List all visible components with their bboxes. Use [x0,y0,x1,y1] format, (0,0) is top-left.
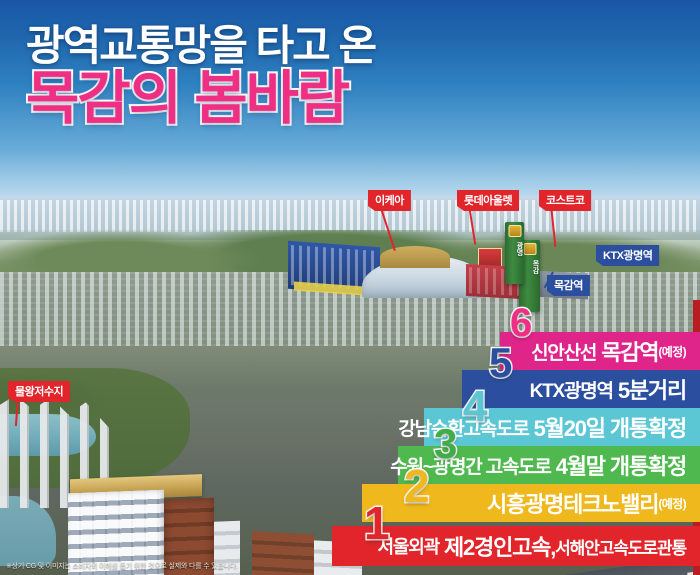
retail-complex [288,232,588,304]
disclaimer-text: ※상기 CG 및 이미지는 소비자의 이해를 돕기 위한 것으로 실제와 다를 … [6,561,238,571]
number-badge-6: 6 [510,303,532,343]
label-ikea: 이케아 [368,190,411,211]
advertisement-poster: 광역교통망을 타고 온 목감의 봄바람 [0,0,700,575]
headline-line-1: 광역교통망을 타고 온 [26,22,676,70]
pylon-emblem-icon [508,225,521,237]
label-costco: 코스트코 [539,190,591,211]
number-badge-2: 2 [404,463,430,509]
neighbor-facade-brick [252,531,314,575]
pylon-label-gwangmyeong: 광명 [505,242,524,256]
headline-line-2: 목감의 봄바람 [26,68,676,130]
bar5-text-2: 5분거리 [618,373,686,405]
bar6-text-3: (예정) [658,343,686,360]
bar6-text-1: 신안산선 [531,338,596,365]
number-badge-4: 4 [463,385,487,429]
label-mulwang-reservoir: 물왕저수지 [8,381,70,402]
bar4-text-2: 5월20일 [534,411,605,443]
bar2-text-3: (예정) [658,495,686,512]
label-mokgam-station: 목감역 [547,275,590,296]
label-ktx-gwangmyeong-station: KTX광명역 [596,245,659,266]
bar3-text-2: 4월말 [556,449,605,481]
number-badge-3: 3 [434,423,457,465]
label-lotte-outlet: 롯데아울렛 [457,190,519,211]
pylon-emblem-icon [523,243,536,255]
bar5-text-1: KTX광명역 [530,376,613,403]
bar3-text-3: 개통확정 [610,449,686,481]
bar4-text-3: 개통확정 [610,411,686,443]
outlet-upper-roof [380,246,450,268]
bar2-text-1: 시흥광명테크노밸리 [487,487,658,519]
bar1-text-2: 제2경인고속, [444,530,555,562]
number-badge-1: 1 [364,500,390,546]
bar1-text-3: 서해안고속도로관통 [555,534,686,559]
station-pylon-gwangmyeong: 광명 [505,222,524,284]
headline: 광역교통망을 타고 온 목감의 봄바람 [26,22,676,130]
number-badge-5: 5 [489,342,512,384]
bar6-text-2: 목감역 [601,335,658,367]
